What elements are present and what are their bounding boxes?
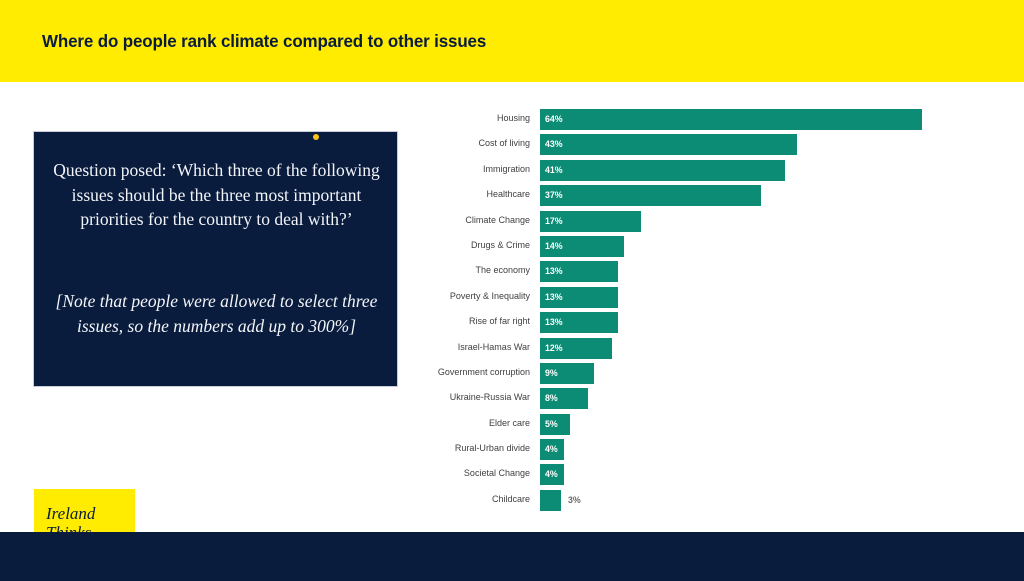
question-callout-box: Question posed: ‘Which three of the foll… [33,131,398,387]
bar-track: 5% [540,414,570,435]
header-band: Where do people rank climate compared to… [0,0,1024,82]
bar-category-label: Climate Change [428,210,530,231]
bar-value-label: 4% [545,464,558,485]
bar-category-label: Childcare [428,489,530,510]
bar-category-label: Rural-Urban divide [428,438,530,459]
bar-row: Drugs & Crime14% [426,235,966,260]
bar-row: Immigration41% [426,159,966,184]
bar-row: The economy13% [426,260,966,285]
question-posed-text: Question posed: ‘Which three of the foll… [48,158,385,232]
bar: 64% [540,109,922,130]
bar-category-label: Elder care [428,413,530,434]
bar-track: 41% [540,160,785,181]
bar-track: 4% [540,439,564,460]
bar-track: 14% [540,236,624,257]
bar-track: 4% [540,464,564,485]
bar-track: 9% [540,363,594,384]
bar-row: Childcare3% [426,489,966,514]
bar: 13% [540,287,618,308]
bar-track: 13% [540,312,618,333]
bar-value-label: 17% [545,211,563,232]
priorities-bar-chart: Housing64%Cost of living43%Immigration41… [426,108,966,514]
bar-row: Government corruption9% [426,362,966,387]
slide-canvas: Where do people rank climate compared to… [0,0,1024,581]
bar-category-label: Poverty & Inequality [428,286,530,307]
bar-category-label: Healthcare [428,184,530,205]
bar: 4% [540,439,564,460]
bar-value-label: 4% [545,439,558,460]
bar-track: 43% [540,134,797,155]
bar: 13% [540,312,618,333]
bar: 4% [540,464,564,485]
bar-row: Climate Change17% [426,210,966,235]
bar-row: Ukraine-Russia War8% [426,387,966,412]
bar: 8% [540,388,588,409]
bar-value-label: 41% [545,160,563,181]
bar-track: 13% [540,287,618,308]
bar-category-label: Government corruption [428,362,530,383]
bar-track: 64% [540,109,922,130]
bar-value-label: 12% [545,338,563,359]
bar-row: Cost of living43% [426,133,966,158]
footer-band [0,532,1024,581]
bar-row: Rural-Urban divide4% [426,438,966,463]
bar-category-label: Cost of living [428,133,530,154]
bar-row: Societal Change4% [426,463,966,488]
bar-value-label: 8% [545,388,558,409]
bar-value-label: 43% [545,134,563,155]
bar-row: Israel-Hamas War12% [426,337,966,362]
bar: 41% [540,160,785,181]
bar-track: 37% [540,185,761,206]
bar-value-label: 13% [545,312,563,333]
bar-category-label: Rise of far right [428,311,530,332]
bar-value-label: 5% [545,414,558,435]
bar-track: 8% [540,388,588,409]
bar-track: 3% [540,490,561,511]
bar: 13% [540,261,618,282]
bar-value-label: 13% [545,261,563,282]
bar-row: Rise of far right13% [426,311,966,336]
bar-row: Elder care5% [426,413,966,438]
bar-category-label: Immigration [428,159,530,180]
bar-category-label: Societal Change [428,463,530,484]
bar-category-label: Israel-Hamas War [428,337,530,358]
bar-row: Housing64% [426,108,966,133]
bar: 9% [540,363,594,384]
bar: 5% [540,414,570,435]
bar-value-label: 37% [545,185,563,206]
bar-category-label: Ukraine-Russia War [428,387,530,408]
bar-category-label: Housing [428,108,530,129]
bar-category-label: The economy [428,260,530,281]
bar: 43% [540,134,797,155]
bar-track: 17% [540,211,641,232]
bar-value-label: 64% [545,109,563,130]
bar-row: Poverty & Inequality13% [426,286,966,311]
bar-track: 12% [540,338,612,359]
page-title: Where do people rank climate compared to… [42,31,486,52]
bar-track: 13% [540,261,618,282]
bar-value-label: 14% [545,236,563,257]
bar-value-label: 13% [545,287,563,308]
bar: 12% [540,338,612,359]
bar-category-label: Drugs & Crime [428,235,530,256]
question-note-text: [Note that people were allowed to select… [44,289,389,338]
bar-value-label: 3% [568,490,581,511]
bar [540,490,561,511]
bar-value-label: 9% [545,363,558,384]
bar: 37% [540,185,761,206]
bar: 14% [540,236,624,257]
bar-row: Healthcare37% [426,184,966,209]
bullet-dot-icon [313,134,319,140]
bar: 17% [540,211,641,232]
